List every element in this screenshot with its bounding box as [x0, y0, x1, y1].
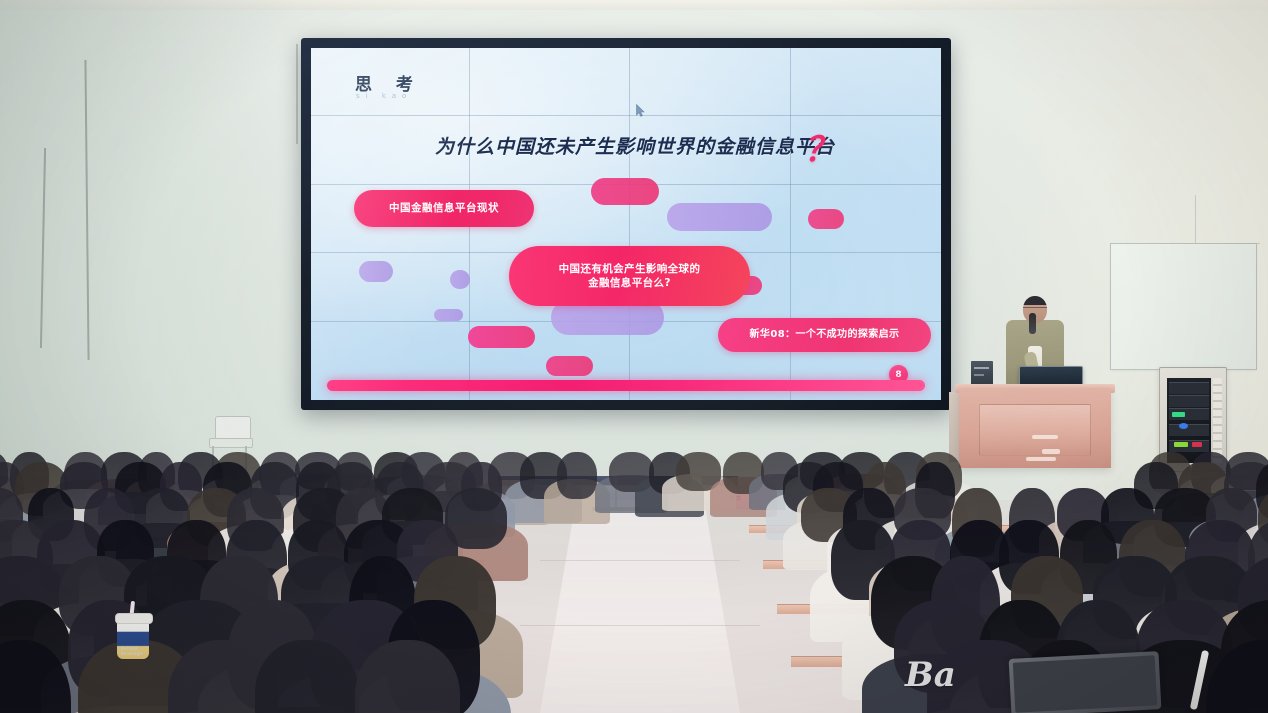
handheld-microphone [1029, 313, 1036, 334]
slide-decor-blob-5 [450, 270, 470, 289]
rack-rail [1213, 378, 1222, 463]
rack-unit [1169, 382, 1209, 394]
mouse-cursor-icon [636, 104, 645, 117]
pill-2-line-2: 金融信息平台么? [588, 276, 671, 290]
chair-back [215, 416, 251, 440]
slide-headline-question-mark: ？ [804, 122, 838, 171]
slide-decor-blob-2 [667, 203, 772, 231]
presentation-screen[interactable]: 思 考 si kao 为什么中国还未产生影响世界的金融信息平台 ？ 中国金融信息… [311, 48, 941, 400]
slide-decor-blob-4 [359, 261, 393, 282]
presenter-glasses [1023, 307, 1047, 313]
podium-emblem [1042, 449, 1060, 454]
drink-cup: Bottled Beverage [117, 607, 149, 659]
rack-status-led-red [1192, 442, 1202, 447]
wall-cable [296, 44, 298, 144]
floor-tile-line [540, 560, 740, 561]
whiteboard [1110, 243, 1257, 370]
rack-status-led-green [1172, 412, 1185, 417]
lecture-hall-photo: 思 考 si kao 为什么中国还未产生影响世界的金融信息平台 ？ 中国金融信息… [0, 0, 1268, 713]
rack-status-led-lime [1174, 442, 1188, 447]
tablet-screen[interactable] [1013, 655, 1157, 712]
slide-decor-blob-3 [808, 209, 844, 229]
tower-vent [974, 374, 984, 376]
rack-unit [1169, 395, 1209, 407]
wall-shadow-left [0, 0, 300, 470]
podium-emblem [1026, 457, 1056, 461]
floor-tile-line [520, 625, 760, 626]
student-tablet[interactable] [1009, 651, 1162, 713]
slide-decor-blob-9 [468, 326, 535, 348]
slide-decor-blob-7 [434, 309, 463, 321]
tower-vent [974, 367, 989, 369]
tshirt-graphic-text: Ba [905, 655, 956, 695]
pill-2-line-1: 中国还有机会产生影响全球的 [559, 262, 701, 276]
slide-content: 思 考 si kao 为什么中国还未产生影响世界的金融信息平台 ？ 中国金融信息… [311, 48, 941, 400]
audience-member-head [557, 452, 596, 499]
rack-status-led-blue [1179, 423, 1188, 429]
slide-decor-blob-1 [591, 178, 659, 205]
slide-section-title-pinyin: si kao [356, 92, 412, 100]
slide-decor-blob-10 [546, 356, 593, 376]
slide-topic-pill-2[interactable]: 中国还有机会产生影响全球的 金融信息平台么? [509, 246, 750, 306]
slide-headline: 为什么中国还未产生影响世界的金融信息平台 [435, 132, 835, 159]
slide-topic-pill-3[interactable]: 新华08：一个不成功的探索启示 [718, 318, 931, 352]
podium-emblem [1032, 435, 1058, 439]
rack-unit [1169, 424, 1209, 436]
video-wall-bezel: 思 考 si kao 为什么中国还未产生影响世界的金融信息平台 ？ 中国金融信息… [301, 38, 951, 410]
podium-front-panel [979, 404, 1091, 456]
rack-interior [1167, 378, 1211, 463]
slide-topic-pill-1[interactable]: 中国金融信息平台现状 [354, 190, 534, 227]
slide-bottom-accent-bar [327, 380, 925, 391]
podium [959, 388, 1111, 468]
cup-lid [115, 613, 153, 624]
cup-brand-text: Bottled Beverage [121, 646, 149, 656]
